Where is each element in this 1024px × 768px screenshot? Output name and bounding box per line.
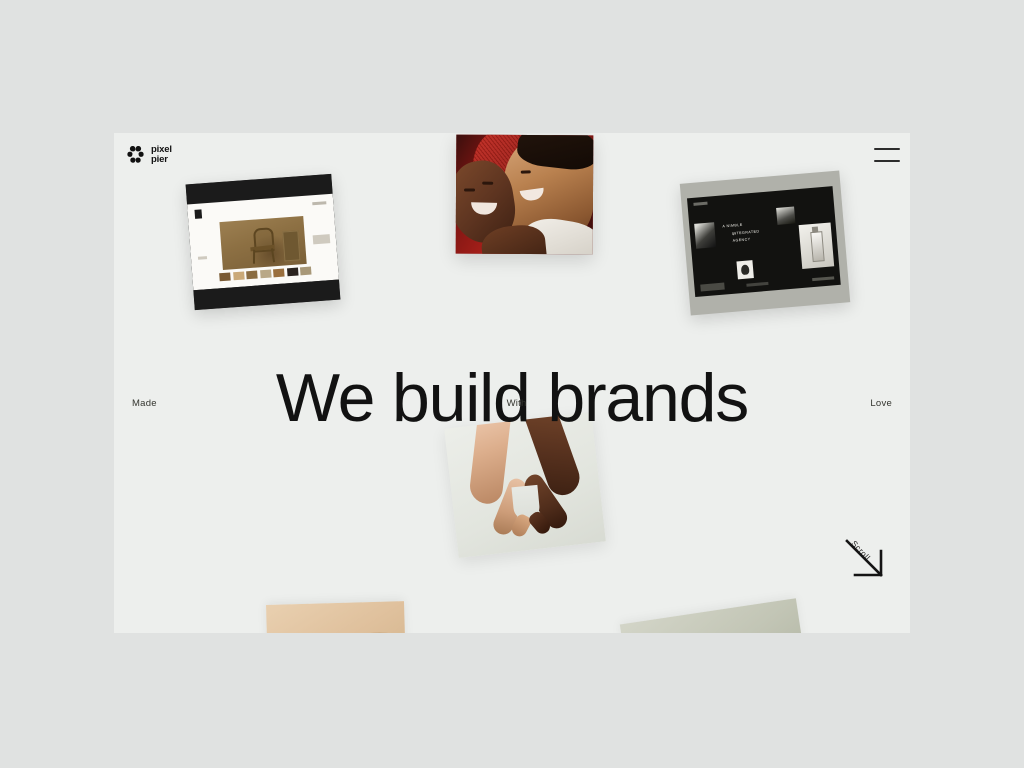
- portrait-hair: [516, 135, 594, 172]
- mockup-thumbnail: [286, 268, 298, 277]
- portrait-eye: [521, 170, 531, 173]
- mockup-nav-placeholder: [312, 201, 326, 205]
- sage-peeking-card[interactable]: [620, 598, 806, 633]
- brand-wordmark: pixel pier: [151, 145, 172, 164]
- mockup-thumbnail: [273, 269, 285, 278]
- portrait-eye: [482, 182, 493, 185]
- menu-bar: [874, 160, 900, 162]
- mockup-thumbnail: [233, 271, 245, 280]
- tagline-word-made: Made: [132, 398, 157, 409]
- agency-mockup-footer-block: [700, 283, 725, 292]
- mockup-thumbnail: [260, 270, 272, 279]
- arrow-down-right-icon: [841, 531, 893, 583]
- mockup-page: [187, 194, 339, 290]
- mockup-side-copy: [313, 234, 331, 244]
- agency-mockup-product-body: [810, 231, 824, 262]
- mockup-chair-photo: [219, 216, 306, 270]
- agency-mockup-footer-meta: [812, 276, 834, 281]
- mockup-left-copy: [198, 256, 207, 260]
- tagline-word-love: Love: [870, 398, 892, 409]
- brand-logo[interactable]: pixel pier: [126, 145, 172, 164]
- tagline-word-with: With: [507, 398, 527, 409]
- page-stage: A NIMBLE INTEGRATED AGENCY +: [0, 0, 1024, 768]
- menu-bar: [874, 148, 900, 150]
- furniture-portfolio-mockup-card[interactable]: [186, 174, 341, 310]
- tagline-row: Made With Love: [132, 398, 892, 409]
- agency-mockup-screen: A NIMBLE INTEGRATED AGENCY +: [687, 186, 841, 297]
- mockup-chair-leg: [253, 250, 255, 264]
- portrait-smile: [520, 188, 545, 202]
- scroll-cue[interactable]: Scroll: [841, 531, 893, 583]
- mockup-logo-icon: [194, 209, 202, 218]
- agency-mockup-logo-icon: [693, 202, 707, 206]
- mockup-chair-sidebox: [282, 230, 300, 261]
- portrait-eye: [464, 188, 475, 191]
- laughing-portrait-card[interactable]: [456, 135, 594, 255]
- agency-mockup-product-image: [799, 222, 835, 269]
- agency-mockup-portrait-silhouette: [741, 264, 750, 275]
- tan-peeking-card[interactable]: [266, 601, 406, 633]
- tan-card-shape: [304, 627, 406, 633]
- brand-name-line-2: pier: [151, 155, 172, 165]
- portrait-smile: [471, 202, 497, 215]
- agency-site-mockup-card[interactable]: A NIMBLE INTEGRATED AGENCY +: [680, 171, 850, 316]
- mockup-thumbnail: [300, 267, 312, 276]
- hamburger-menu-icon[interactable]: [874, 148, 900, 162]
- agency-headline-plus: +: [732, 232, 735, 237]
- agency-mockup-image-left: [694, 222, 716, 249]
- agency-mockup-footer-copy: [746, 282, 768, 287]
- clover-mark-icon: [126, 145, 145, 164]
- agency-mockup-image-center: [736, 260, 753, 279]
- mockup-thumbnail: [219, 272, 231, 281]
- hero-canvas: A NIMBLE INTEGRATED AGENCY +: [114, 133, 910, 633]
- mockup-thumbnail: [246, 271, 258, 280]
